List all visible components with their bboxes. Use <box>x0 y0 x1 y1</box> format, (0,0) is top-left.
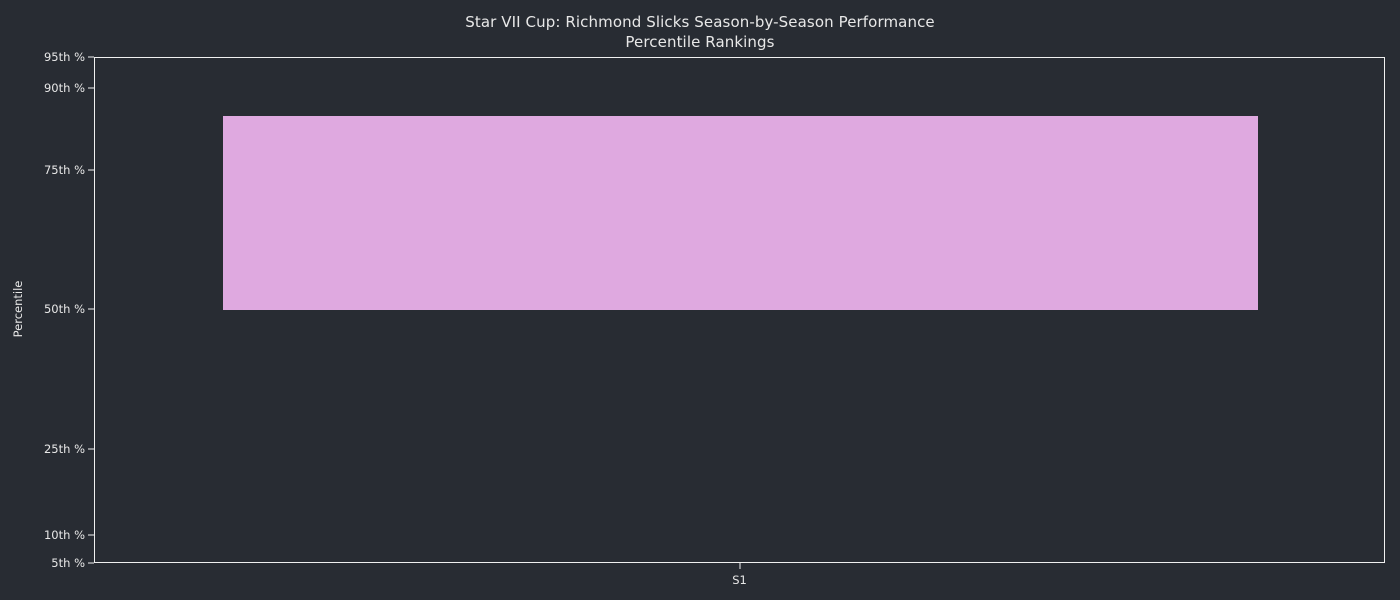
chart-title-line-2: Percentile Rankings <box>0 32 1400 52</box>
y-axis-label: Percentile <box>11 279 25 339</box>
x-tick-label: S1 <box>732 573 747 587</box>
bar-s1[interactable] <box>223 116 1257 310</box>
y-tick-label: 5th % <box>51 556 85 570</box>
plot-area <box>94 57 1385 563</box>
y-tick-label: 25th % <box>44 442 85 456</box>
y-tick-label: 50th % <box>44 302 85 316</box>
bars-layer <box>95 58 1384 562</box>
y-tick-label: 95th % <box>44 50 85 64</box>
y-tick-label: 10th % <box>44 528 85 542</box>
y-tick-label: 90th % <box>44 81 85 95</box>
chart-title-line-1: Star VII Cup: Richmond Slicks Season-by-… <box>0 12 1400 32</box>
y-tick-label: 75th % <box>44 163 85 177</box>
chart-figure: Star VII Cup: Richmond Slicks Season-by-… <box>0 0 1400 600</box>
chart-title: Star VII Cup: Richmond Slicks Season-by-… <box>0 12 1400 52</box>
x-tick-mark <box>739 563 740 569</box>
